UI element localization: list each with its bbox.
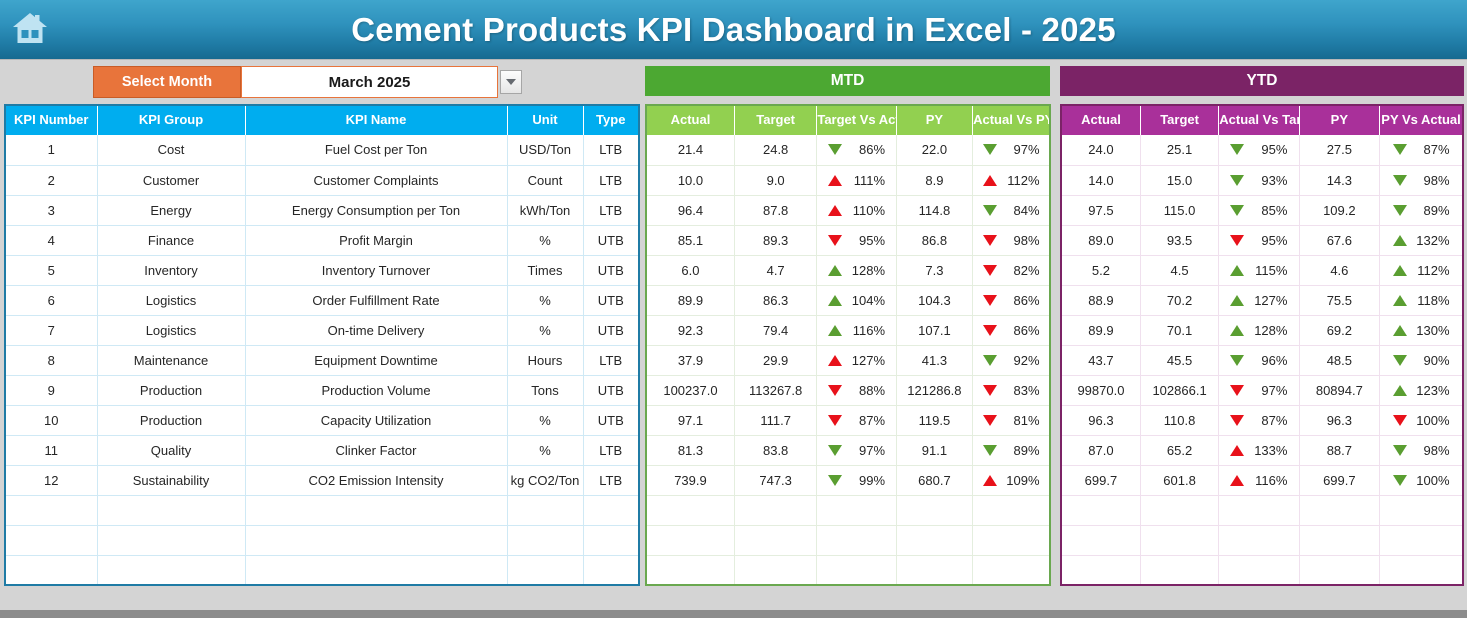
cell-mtd-py: 680.7: [896, 465, 972, 495]
cell-mtd-actual-vs-py: 92%: [973, 345, 1050, 375]
cell-unit: Count: [507, 165, 583, 195]
cell-kpi-group: [97, 525, 245, 555]
cell-kpi-group: Cost: [97, 135, 245, 165]
triangle-down-icon: [983, 205, 997, 216]
cell-ytd-actual-vs-target: [1219, 495, 1299, 525]
cell-mtd-actual: [646, 555, 734, 585]
cell-type: LTB: [583, 195, 639, 225]
table-row[interactable]: 96.487.8110%114.884%: [646, 195, 1050, 225]
triangle-up-icon: [1393, 235, 1407, 246]
table-row[interactable]: [646, 495, 1050, 525]
cell-mtd-actual: 739.9: [646, 465, 734, 495]
cell-unit: Times: [507, 255, 583, 285]
table-row[interactable]: 739.9747.399%680.7109%: [646, 465, 1050, 495]
cell-type: [583, 555, 639, 585]
percent-value: 93%: [1253, 173, 1287, 188]
table-row[interactable]: 99870.0102866.197%80894.7123%: [1061, 375, 1463, 405]
table-row[interactable]: [5, 555, 639, 585]
cell-ytd-py: 80894.7: [1299, 375, 1379, 405]
cell-ytd-actual-vs-target: 133%: [1219, 435, 1299, 465]
cell-kpi-number: 11: [5, 435, 97, 465]
percent-value: 127%: [1253, 293, 1287, 308]
triangle-up-icon: [828, 265, 842, 276]
cell-ytd-py: [1299, 495, 1379, 525]
cell-kpi-group: Logistics: [97, 285, 245, 315]
percent-value: 97%: [1006, 142, 1040, 157]
cell-mtd-target-vs-actual: [817, 495, 896, 525]
cell-ytd-py-vs-actual: 118%: [1380, 285, 1463, 315]
col-header-mtd-target[interactable]: Target: [734, 105, 816, 135]
cell-mtd-actual-vs-py: [973, 525, 1050, 555]
cell-ytd-target: 110.8: [1140, 405, 1218, 435]
table-row[interactable]: 88.970.2127%75.5118%: [1061, 285, 1463, 315]
col-header-mtd-target-vs-actual[interactable]: Target Vs Actual: [817, 105, 896, 135]
table-row[interactable]: 699.7601.8116%699.7100%: [1061, 465, 1463, 495]
cell-kpi-group: Production: [97, 375, 245, 405]
cell-mtd-actual-vs-py: [973, 555, 1050, 585]
triangle-up-icon: [828, 175, 842, 186]
triangle-down-icon: [1230, 144, 1244, 155]
cell-unit: USD/Ton: [507, 135, 583, 165]
cell-ytd-py: 67.6: [1299, 225, 1379, 255]
percent-value: 97%: [851, 443, 885, 458]
triangle-up-icon: [1393, 265, 1407, 276]
cell-mtd-target-vs-actual: 87%: [817, 405, 896, 435]
cell-ytd-actual: [1061, 555, 1140, 585]
cell-ytd-actual: 97.5: [1061, 195, 1140, 225]
cell-ytd-actual-vs-target: 128%: [1219, 315, 1299, 345]
cell-ytd-actual-vs-target: 87%: [1219, 405, 1299, 435]
cell-ytd-actual: 87.0: [1061, 435, 1140, 465]
cell-ytd-target: 65.2: [1140, 435, 1218, 465]
cell-type: LTB: [583, 345, 639, 375]
cell-mtd-actual-vs-py: 83%: [973, 375, 1050, 405]
ytd-table: Actual Target Actual Vs Target PY PY Vs …: [1060, 104, 1464, 586]
triangle-down-icon: [983, 385, 997, 396]
table-row[interactable]: 10.09.0111%8.9112%: [646, 165, 1050, 195]
table-row[interactable]: [5, 495, 639, 525]
cell-type: LTB: [583, 165, 639, 195]
cell-ytd-py-vs-actual: 98%: [1380, 165, 1463, 195]
col-header-mtd-actual[interactable]: Actual: [646, 105, 734, 135]
table-row[interactable]: 3EnergyEnergy Consumption per TonkWh/Ton…: [5, 195, 639, 225]
table-row[interactable]: 14.015.093%14.398%: [1061, 165, 1463, 195]
cell-kpi-number: 6: [5, 285, 97, 315]
table-row[interactable]: [1061, 495, 1463, 525]
cell-unit: [507, 555, 583, 585]
cell-kpi-name: CO2 Emission Intensity: [245, 465, 507, 495]
table-row[interactable]: 8MaintenanceEquipment DowntimeHoursLTB: [5, 345, 639, 375]
cell-ytd-py-vs-actual: 90%: [1380, 345, 1463, 375]
cell-ytd-py-vs-actual: 98%: [1380, 435, 1463, 465]
percent-value: 116%: [851, 323, 885, 338]
cell-mtd-target-vs-actual: [817, 555, 896, 585]
table-row[interactable]: [646, 555, 1050, 585]
cell-ytd-py: 48.5: [1299, 345, 1379, 375]
month-dropdown-button[interactable]: [500, 70, 522, 94]
table-row[interactable]: 4FinanceProfit Margin%UTB: [5, 225, 639, 255]
table-row[interactable]: [5, 525, 639, 555]
triangle-up-icon: [828, 355, 842, 366]
col-header-ytd-actual-vs-target[interactable]: Actual Vs Target: [1219, 105, 1299, 135]
percent-value: 86%: [1006, 323, 1040, 338]
cell-ytd-actual: 96.3: [1061, 405, 1140, 435]
cell-kpi-group: Maintenance: [97, 345, 245, 375]
cell-kpi-number: 2: [5, 165, 97, 195]
cell-ytd-actual-vs-target: 97%: [1219, 375, 1299, 405]
table-row[interactable]: 5InventoryInventory TurnoverTimesUTB: [5, 255, 639, 285]
cell-mtd-target-vs-actual: [817, 525, 896, 555]
cell-mtd-target: 24.8: [734, 135, 816, 165]
triangle-up-icon: [1230, 295, 1244, 306]
cell-kpi-name: [245, 495, 507, 525]
cell-type: UTB: [583, 315, 639, 345]
cell-unit: %: [507, 285, 583, 315]
triangle-down-icon: [983, 355, 997, 366]
triangle-down-icon: [1393, 475, 1407, 486]
cell-mtd-actual-vs-py: 82%: [973, 255, 1050, 285]
table-row[interactable]: 7LogisticsOn-time Delivery%UTB: [5, 315, 639, 345]
cell-ytd-actual: 5.2: [1061, 255, 1140, 285]
percent-value: 90%: [1416, 353, 1450, 368]
table-row[interactable]: 21.424.886%22.097%: [646, 135, 1050, 165]
percent-value: 95%: [1253, 233, 1287, 248]
col-header-ytd-py[interactable]: PY: [1299, 105, 1379, 135]
home-icon[interactable]: [8, 6, 52, 50]
cell-ytd-py: 96.3: [1299, 405, 1379, 435]
cell-mtd-py: 91.1: [896, 435, 972, 465]
cell-kpi-number: 4: [5, 225, 97, 255]
triangle-down-icon: [983, 235, 997, 246]
cell-type: [583, 525, 639, 555]
percent-value: 97%: [1253, 383, 1287, 398]
cell-kpi-group: Sustainability: [97, 465, 245, 495]
cell-ytd-actual-vs-target: 96%: [1219, 345, 1299, 375]
cell-ytd-actual: 43.7: [1061, 345, 1140, 375]
cell-unit: kg CO2/Ton: [507, 465, 583, 495]
ytd-header-row: Actual Target Actual Vs Target PY PY Vs …: [1061, 105, 1463, 135]
triangle-down-icon: [828, 385, 842, 396]
cell-ytd-target: 93.5: [1140, 225, 1218, 255]
cell-ytd-py-vs-actual: 100%: [1380, 465, 1463, 495]
cell-mtd-actual: 85.1: [646, 225, 734, 255]
cell-ytd-py: 699.7: [1299, 465, 1379, 495]
cell-mtd-target: 113267.8: [734, 375, 816, 405]
percent-value: 87%: [1253, 413, 1287, 428]
cell-kpi-number: 5: [5, 255, 97, 285]
cell-kpi-group: Production: [97, 405, 245, 435]
col-header-unit[interactable]: Unit: [507, 105, 583, 135]
cell-mtd-py: 104.3: [896, 285, 972, 315]
cell-ytd-actual-vs-target: 93%: [1219, 165, 1299, 195]
cell-ytd-py-vs-actual: [1380, 555, 1463, 585]
cell-type: LTB: [583, 465, 639, 495]
triangle-down-icon: [983, 445, 997, 456]
cell-ytd-actual-vs-target: [1219, 525, 1299, 555]
cell-mtd-py: 41.3: [896, 345, 972, 375]
table-row[interactable]: 1CostFuel Cost per TonUSD/TonLTB: [5, 135, 639, 165]
cell-type: UTB: [583, 375, 639, 405]
cell-ytd-actual-vs-target: 85%: [1219, 195, 1299, 225]
cell-ytd-target: 45.5: [1140, 345, 1218, 375]
cell-mtd-actual-vs-py: 86%: [973, 315, 1050, 345]
cell-kpi-number: 12: [5, 465, 97, 495]
cell-mtd-target: 83.8: [734, 435, 816, 465]
cell-ytd-actual-vs-target: 116%: [1219, 465, 1299, 495]
cell-ytd-target: [1140, 495, 1218, 525]
percent-value: 100%: [1416, 413, 1450, 428]
cell-kpi-name: Order Fulfillment Rate: [245, 285, 507, 315]
cell-unit: Tons: [507, 375, 583, 405]
cell-kpi-number: 10: [5, 405, 97, 435]
cell-kpi-name: Clinker Factor: [245, 435, 507, 465]
cell-ytd-target: 601.8: [1140, 465, 1218, 495]
percent-value: 95%: [1253, 142, 1287, 157]
cell-mtd-actual-vs-py: 84%: [973, 195, 1050, 225]
cell-mtd-py: 119.5: [896, 405, 972, 435]
table-row[interactable]: 89.970.1128%69.2130%: [1061, 315, 1463, 345]
cell-type: LTB: [583, 135, 639, 165]
cell-ytd-actual-vs-target: 127%: [1219, 285, 1299, 315]
cell-mtd-target-vs-actual: 99%: [817, 465, 896, 495]
percent-value: 133%: [1253, 443, 1287, 458]
percent-value: 109%: [1006, 473, 1040, 488]
table-row[interactable]: [1061, 525, 1463, 555]
triangle-down-icon: [828, 144, 842, 155]
cell-type: UTB: [583, 405, 639, 435]
cell-ytd-py-vs-actual: 132%: [1380, 225, 1463, 255]
cell-ytd-py: 4.6: [1299, 255, 1379, 285]
percent-value: 89%: [1416, 203, 1450, 218]
cell-ytd-target: 15.0: [1140, 165, 1218, 195]
cell-kpi-name: [245, 555, 507, 585]
cell-mtd-target: 29.9: [734, 345, 816, 375]
cell-type: LTB: [583, 435, 639, 465]
cell-kpi-number: [5, 555, 97, 585]
cell-mtd-target: 747.3: [734, 465, 816, 495]
cell-kpi-group: [97, 555, 245, 585]
cell-mtd-target-vs-actual: 127%: [817, 345, 896, 375]
cell-mtd-target: 86.3: [734, 285, 816, 315]
triangle-up-icon: [1230, 475, 1244, 486]
percent-value: 104%: [851, 293, 885, 308]
cell-kpi-number: 9: [5, 375, 97, 405]
table-row[interactable]: 5.24.5115%4.6112%: [1061, 255, 1463, 285]
table-row[interactable]: 6LogisticsOrder Fulfillment Rate%UTB: [5, 285, 639, 315]
cell-kpi-name: On-time Delivery: [245, 315, 507, 345]
cell-ytd-target: 4.5: [1140, 255, 1218, 285]
cell-unit: [507, 495, 583, 525]
triangle-down-icon: [1230, 205, 1244, 216]
cell-mtd-target: 4.7: [734, 255, 816, 285]
cell-mtd-py: 107.1: [896, 315, 972, 345]
cell-type: UTB: [583, 255, 639, 285]
table-row[interactable]: 10ProductionCapacity Utilization%UTB: [5, 405, 639, 435]
col-header-kpi-number[interactable]: KPI Number: [5, 105, 97, 135]
percent-value: 95%: [851, 233, 885, 248]
cell-ytd-target: 115.0: [1140, 195, 1218, 225]
percent-value: 130%: [1416, 323, 1450, 338]
cell-mtd-actual-vs-py: 109%: [973, 465, 1050, 495]
select-month-label: Select Month: [93, 66, 241, 98]
col-header-mtd-actual-vs-py[interactable]: Actual Vs PY: [973, 105, 1050, 135]
title-bar: Cement Products KPI Dashboard in Excel -…: [0, 0, 1467, 60]
table-row[interactable]: 89.093.595%67.6132%: [1061, 225, 1463, 255]
triangle-down-icon: [983, 265, 997, 276]
cell-type: [583, 495, 639, 525]
percent-value: 81%: [1006, 413, 1040, 428]
percent-value: 132%: [1416, 233, 1450, 248]
cell-mtd-py: 121286.8: [896, 375, 972, 405]
cell-mtd-actual-vs-py: 89%: [973, 435, 1050, 465]
cell-unit: %: [507, 435, 583, 465]
cell-ytd-target: [1140, 525, 1218, 555]
cell-mtd-py: [896, 525, 972, 555]
cell-kpi-name: Profit Margin: [245, 225, 507, 255]
table-row[interactable]: 24.025.195%27.587%: [1061, 135, 1463, 165]
cell-mtd-actual-vs-py: [973, 495, 1050, 525]
cell-mtd-py: 7.3: [896, 255, 972, 285]
kpi-table: KPI Number KPI Group KPI Name Unit Type …: [4, 104, 640, 586]
percent-value: 98%: [1416, 443, 1450, 458]
table-row[interactable]: 2CustomerCustomer ComplaintsCountLTB: [5, 165, 639, 195]
cell-ytd-target: 25.1: [1140, 135, 1218, 165]
triangle-down-icon: [828, 415, 842, 426]
cell-mtd-target-vs-actual: 97%: [817, 435, 896, 465]
triangle-down-icon: [828, 445, 842, 456]
triangle-up-icon: [1393, 325, 1407, 336]
table-row[interactable]: 12SustainabilityCO2 Emission Intensitykg…: [5, 465, 639, 495]
col-header-ytd-actual[interactable]: Actual: [1061, 105, 1140, 135]
percent-value: 87%: [851, 413, 885, 428]
cell-type: UTB: [583, 285, 639, 315]
col-header-ytd-target[interactable]: Target: [1140, 105, 1218, 135]
cell-kpi-group: [97, 495, 245, 525]
cell-mtd-py: 114.8: [896, 195, 972, 225]
cell-ytd-py: 27.5: [1299, 135, 1379, 165]
cell-mtd-target: 87.8: [734, 195, 816, 225]
col-header-kpi-group[interactable]: KPI Group: [97, 105, 245, 135]
triangle-down-icon: [1393, 415, 1407, 426]
table-row[interactable]: [646, 525, 1050, 555]
table-row[interactable]: 97.1111.787%119.581%: [646, 405, 1050, 435]
percent-value: 99%: [851, 473, 885, 488]
triangle-up-icon: [828, 295, 842, 306]
cell-kpi-name: Fuel Cost per Ton: [245, 135, 507, 165]
percent-value: 127%: [851, 353, 885, 368]
cell-mtd-actual: 100237.0: [646, 375, 734, 405]
table-row[interactable]: 89.986.3104%104.386%: [646, 285, 1050, 315]
col-header-ytd-py-vs-actual[interactable]: PY Vs Actual: [1380, 105, 1463, 135]
cell-ytd-py-vs-actual: 112%: [1380, 255, 1463, 285]
triangle-down-icon: [1230, 355, 1244, 366]
month-select-value[interactable]: March 2025: [241, 66, 498, 98]
cell-mtd-target-vs-actual: 116%: [817, 315, 896, 345]
triangle-down-icon: [1393, 144, 1407, 155]
cell-ytd-target: [1140, 555, 1218, 585]
percent-value: 118%: [1416, 293, 1450, 308]
cell-ytd-py-vs-actual: [1380, 495, 1463, 525]
mtd-header-row: Actual Target Target Vs Actual PY Actual…: [646, 105, 1050, 135]
table-row[interactable]: 97.5115.085%109.289%: [1061, 195, 1463, 225]
percent-value: 96%: [1253, 353, 1287, 368]
chevron-down-icon: [506, 79, 516, 85]
cell-unit: [507, 525, 583, 555]
cell-ytd-actual: 24.0: [1061, 135, 1140, 165]
percent-value: 111%: [851, 173, 885, 188]
table-row[interactable]: 87.065.2133%88.798%: [1061, 435, 1463, 465]
cell-ytd-py: 69.2: [1299, 315, 1379, 345]
percent-value: 87%: [1416, 142, 1450, 157]
cell-ytd-py-vs-actual: 87%: [1380, 135, 1463, 165]
triangle-down-icon: [1393, 445, 1407, 456]
cell-mtd-target-vs-actual: 128%: [817, 255, 896, 285]
cell-kpi-name: Inventory Turnover: [245, 255, 507, 285]
cell-ytd-py-vs-actual: 123%: [1380, 375, 1463, 405]
cell-kpi-number: 7: [5, 315, 97, 345]
mtd-banner: MTD: [645, 66, 1050, 96]
percent-value: 98%: [1416, 173, 1450, 188]
cell-ytd-actual-vs-target: 95%: [1219, 135, 1299, 165]
table-row[interactable]: 96.3110.887%96.3100%: [1061, 405, 1463, 435]
triangle-up-icon: [983, 175, 997, 186]
table-row[interactable]: 43.745.596%48.590%: [1061, 345, 1463, 375]
percent-value: 116%: [1253, 473, 1287, 488]
cell-ytd-actual: [1061, 525, 1140, 555]
cell-kpi-name: Capacity Utilization: [245, 405, 507, 435]
cell-mtd-target: [734, 525, 816, 555]
table-row[interactable]: 100237.0113267.888%121286.883%: [646, 375, 1050, 405]
ytd-banner: YTD: [1060, 66, 1464, 96]
cell-ytd-target: 70.2: [1140, 285, 1218, 315]
dashboard-root: Cement Products KPI Dashboard in Excel -…: [0, 0, 1467, 618]
cell-mtd-actual: 81.3: [646, 435, 734, 465]
table-row[interactable]: 85.189.395%86.898%: [646, 225, 1050, 255]
cell-unit: Hours: [507, 345, 583, 375]
cell-mtd-actual-vs-py: 81%: [973, 405, 1050, 435]
horizontal-scrollbar[interactable]: [0, 610, 1467, 618]
col-header-kpi-name[interactable]: KPI Name: [245, 105, 507, 135]
percent-value: 82%: [1006, 263, 1040, 278]
cell-ytd-actual: 89.0: [1061, 225, 1140, 255]
col-header-mtd-py[interactable]: PY: [896, 105, 972, 135]
cell-kpi-number: 1: [5, 135, 97, 165]
cell-mtd-actual: [646, 525, 734, 555]
cell-mtd-actual: 92.3: [646, 315, 734, 345]
cell-mtd-actual: 21.4: [646, 135, 734, 165]
table-row[interactable]: 92.379.4116%107.186%: [646, 315, 1050, 345]
table-row[interactable]: 81.383.897%91.189%: [646, 435, 1050, 465]
cell-kpi-group: Customer: [97, 165, 245, 195]
table-row[interactable]: 37.929.9127%41.392%: [646, 345, 1050, 375]
cell-type: UTB: [583, 225, 639, 255]
percent-value: 85%: [1253, 203, 1287, 218]
cell-mtd-target: [734, 555, 816, 585]
table-row[interactable]: 6.04.7128%7.382%: [646, 255, 1050, 285]
percent-value: 100%: [1416, 473, 1450, 488]
triangle-down-icon: [828, 475, 842, 486]
cell-unit: %: [507, 405, 583, 435]
table-row[interactable]: 11QualityClinker Factor%LTB: [5, 435, 639, 465]
cell-unit: kWh/Ton: [507, 195, 583, 225]
cell-mtd-py: 86.8: [896, 225, 972, 255]
col-header-type[interactable]: Type: [583, 105, 639, 135]
table-row[interactable]: [1061, 555, 1463, 585]
table-row[interactable]: 9ProductionProduction VolumeTonsUTB: [5, 375, 639, 405]
triangle-up-icon: [1230, 445, 1244, 456]
cell-ytd-py: [1299, 555, 1379, 585]
cell-kpi-group: Logistics: [97, 315, 245, 345]
